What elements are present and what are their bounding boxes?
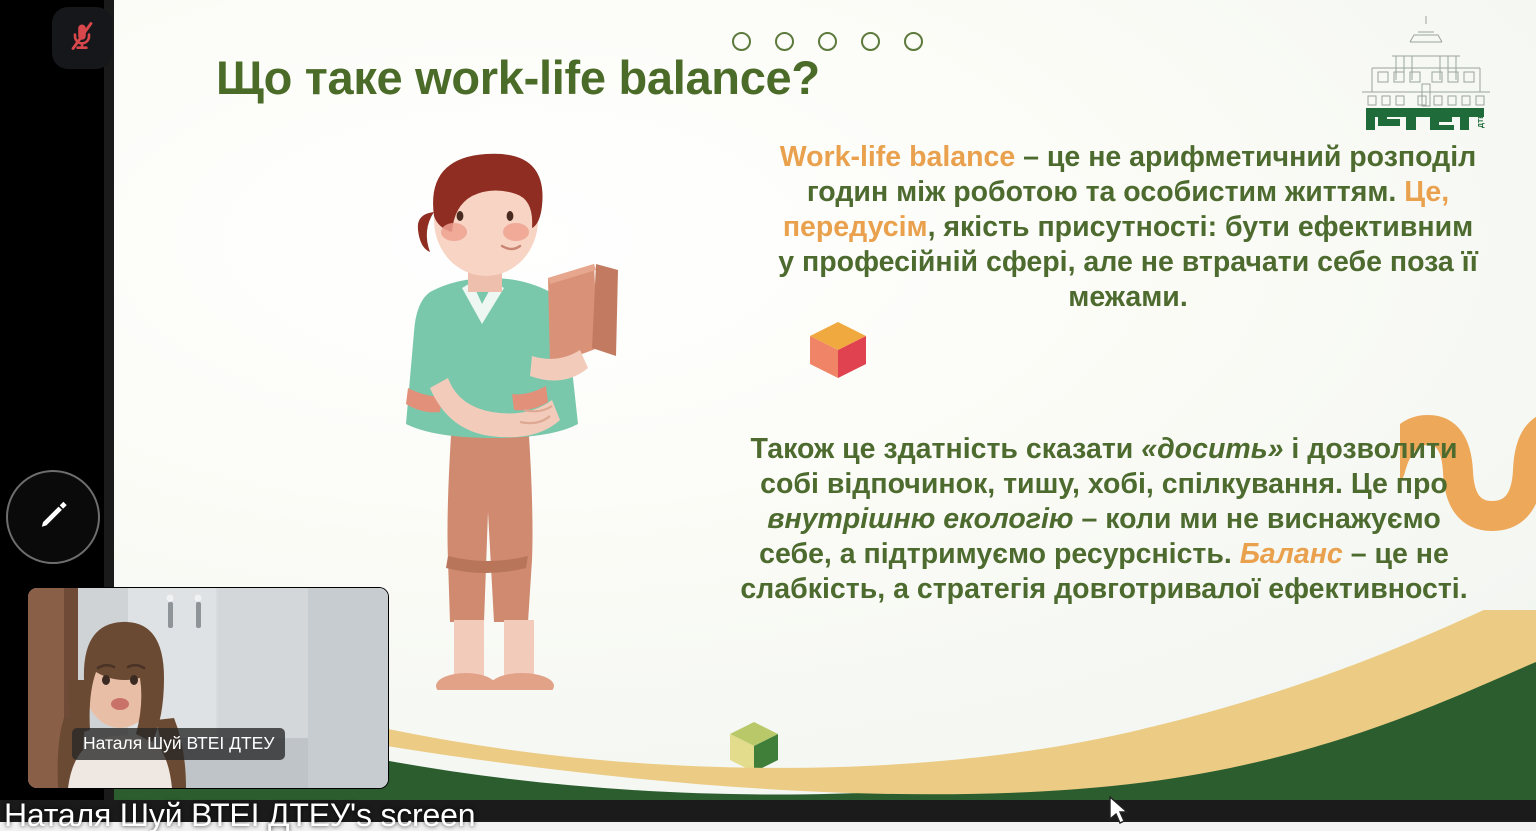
mouse-cursor-icon bbox=[1108, 796, 1130, 831]
italic-phrase-inner-ecology: внутрішню екологію bbox=[767, 503, 1073, 535]
decorative-circle-icon bbox=[861, 32, 880, 51]
decorative-circle-icon bbox=[818, 32, 837, 51]
decorative-circle-icon bbox=[732, 32, 751, 51]
accent-term-work-life-balance: Work-life balance bbox=[780, 141, 1015, 173]
zoom-meeting-screen-share-view: Що таке work-life balance? bbox=[0, 0, 1536, 831]
isometric-cube-orange-icon bbox=[804, 316, 872, 384]
microphone-muted-icon bbox=[66, 19, 98, 58]
annotate-pencil-button[interactable] bbox=[6, 470, 100, 564]
decorative-circle-icon bbox=[775, 32, 794, 51]
pencil-icon bbox=[32, 494, 74, 541]
participant-name-badge: Наталя Шуй ВТЕІ ДТЕУ bbox=[72, 728, 285, 760]
paragraph-elaboration: Також це здатність сказати «досить» і до… bbox=[732, 432, 1476, 607]
accent-term-balans: Баланс bbox=[1240, 538, 1343, 570]
logo-subtext: ДТЕУ bbox=[1478, 109, 1485, 128]
slide-title: Що таке work-life balance? bbox=[216, 50, 976, 105]
paragraph-definition: Work-life balance – це не арифметичний р… bbox=[776, 140, 1480, 315]
decorative-dots-row bbox=[732, 32, 923, 51]
elaboration-lead: Також це здатність сказати bbox=[751, 433, 1142, 465]
university-logo: ДТЕУ bbox=[1348, 12, 1504, 130]
participant-video-tile[interactable]: Наталя Шуй ВТЕІ ДТЕУ bbox=[28, 588, 388, 788]
screen-share-label: Наталя Шуй ВТЕІ ДТЕУ's screen bbox=[4, 797, 475, 831]
microphone-muted-button[interactable] bbox=[52, 7, 112, 69]
decorative-circle-icon bbox=[904, 32, 923, 51]
elaboration-line3-a: Це про bbox=[1351, 468, 1448, 500]
quoted-word-dosyt: «досить» bbox=[1141, 433, 1283, 465]
